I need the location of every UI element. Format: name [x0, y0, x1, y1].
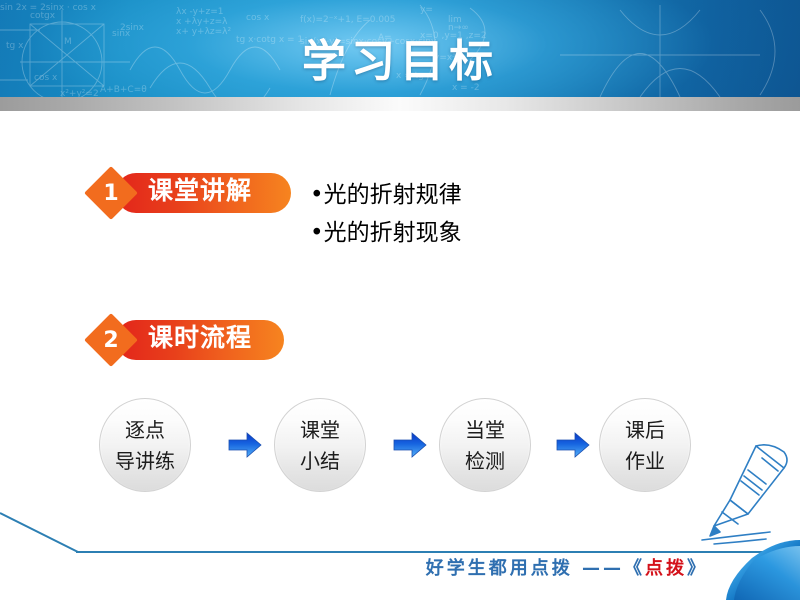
svg-text:sin 2x = 2sinx · cos x: sin 2x = 2sinx · cos x [0, 3, 97, 13]
bullet-list: •光的折射规律 •光的折射现象 [310, 176, 690, 252]
flow-step-2[interactable]: 课堂 小结 [274, 398, 366, 492]
page-curl-icon [724, 540, 800, 600]
section-heading-2: 2 课时流程 [88, 317, 328, 363]
svg-text:cos x: cos x [246, 13, 270, 23]
footer-slogan: 好学生都用点拨 ——《点拨》 [426, 557, 708, 581]
section-heading-1: 1 课堂讲解 [88, 170, 328, 216]
footer-brand-name: 点拨 [645, 558, 687, 579]
flow-step-1-text: 逐点 导讲练 [100, 415, 190, 477]
svg-text:x +λy+z=λ: x +λy+z=λ [176, 17, 228, 27]
footer-slogan-suffix: 》 [687, 558, 708, 579]
flow-step-1-line2: 导讲练 [100, 446, 190, 477]
footer-horizontal-rule [76, 551, 800, 553]
header-separator-band [0, 97, 800, 111]
footer-slogan-prefix: 好学生都用点拨 ——《 [426, 558, 645, 579]
footer-diagonal-rule [0, 505, 90, 557]
slide-canvas: cotgx tg x cos x M sinx 2sinx λx -y+z=1 … [0, 0, 800, 600]
flow-arrow-3-icon [556, 432, 590, 458]
flow-step-1[interactable]: 逐点 导讲练 [99, 398, 191, 492]
flow-step-2-line2: 小结 [275, 446, 365, 477]
section-number-2: 2 [92, 321, 130, 359]
svg-text:f(x)=2⁻ˣ+1, E=0.005: f(x)=2⁻ˣ+1, E=0.005 [300, 15, 396, 25]
svg-text:y=: y= [420, 5, 433, 15]
flow-step-3[interactable]: 当堂 检测 [439, 398, 531, 492]
flow-step-2-text: 课堂 小结 [275, 415, 365, 477]
bullet-item: •光的折射现象 [310, 214, 690, 252]
flow-step-3-text: 当堂 检测 [440, 415, 530, 477]
svg-text:x²+y²=2: x²+y²=2 [60, 89, 99, 97]
section-label-1: 课堂讲解 [148, 170, 252, 210]
flow-step-4-text: 课后 作业 [600, 415, 690, 477]
flow-step-4-line1: 课后 [600, 415, 690, 446]
flow-arrow-2-icon [393, 432, 427, 458]
flow-arrow-1-icon [228, 432, 262, 458]
bullet-item: •光的折射规律 [310, 176, 690, 214]
svg-text:λx -y+z=1: λx -y+z=1 [176, 7, 223, 17]
section-label-2: 课时流程 [148, 317, 252, 357]
section-number-1: 1 [92, 174, 130, 212]
svg-text:n→∞: n→∞ [448, 23, 469, 33]
svg-text:2sinx: 2sinx [120, 23, 145, 33]
page-title: 学习目标 [0, 36, 800, 88]
flow-step-2-line1: 课堂 [275, 415, 365, 446]
flow-step-3-line1: 当堂 [440, 415, 530, 446]
header-banner: cotgx tg x cos x M sinx 2sinx λx -y+z=1 … [0, 0, 800, 97]
flow-step-1-line1: 逐点 [100, 415, 190, 446]
lesson-flow-diagram: 逐点 导讲练 课堂 小结 [0, 398, 800, 498]
flow-step-4[interactable]: 课后 作业 [599, 398, 691, 492]
flow-step-3-line2: 检测 [440, 446, 530, 477]
flow-step-4-line2: 作业 [600, 446, 690, 477]
